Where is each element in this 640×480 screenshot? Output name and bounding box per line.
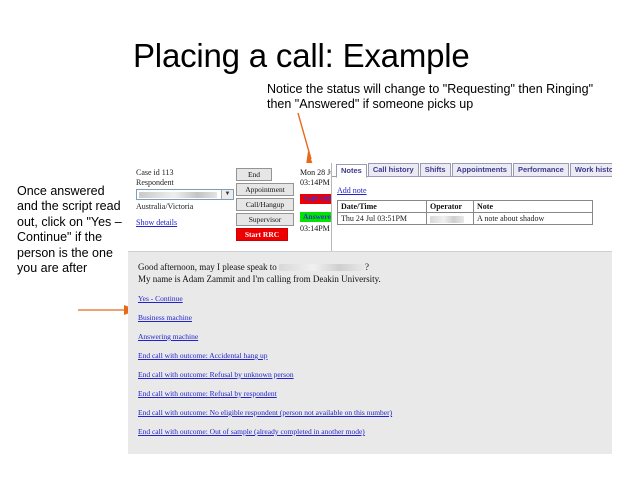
column-header-operator: Operator	[427, 201, 474, 213]
show-details-link[interactable]: Show details	[136, 217, 177, 228]
script-option-links: Yes - Continue Business machine Answerin…	[138, 294, 602, 437]
table-header-row: Date/Time Operator Note	[338, 201, 593, 213]
detail-tab-panel: Notes Call history Shifts Appointments P…	[331, 163, 612, 251]
script-body-region: Good afternoon, may I please speak to ? …	[128, 252, 612, 454]
page-title: Placing a call: Example	[133, 36, 470, 76]
notes-table: Date/Time Operator Note Thu 24 Jul 03:51…	[337, 200, 593, 225]
add-note-link[interactable]: Add note	[337, 185, 367, 196]
chevron-down-icon[interactable]: ▼	[221, 190, 233, 199]
option-yes-continue[interactable]: Yes - Continue	[138, 294, 183, 304]
app-header-region: Case id 113 Respondent ▼ Australia/Victo…	[128, 163, 612, 252]
cell-note: A note about shadow	[474, 213, 593, 225]
application-screenshot: Case id 113 Respondent ▼ Australia/Victo…	[128, 163, 612, 454]
tab-strip: Notes Call history Shifts Appointments P…	[332, 163, 612, 177]
end-button[interactable]: End	[236, 168, 272, 181]
call-action-buttons: End Appointment Call/Hangup Supervisor S…	[236, 168, 298, 243]
region-label: Australia/Victoria	[136, 202, 246, 212]
script-line-2: My name is Adam Zammit and I'm calling f…	[138, 273, 602, 285]
script-greeting: Good afternoon, may I please speak to	[138, 262, 277, 272]
annotation-yes-continue: Once answered and the script read out, c…	[17, 184, 127, 276]
tab-performance[interactable]: Performance	[513, 163, 569, 176]
table-row[interactable]: Thu 24 Jul 03:51PM A note about shadow	[338, 213, 593, 225]
script-line-1: Good afternoon, may I please speak to ?	[138, 261, 602, 273]
option-end-no-eligible-respondent[interactable]: End call with outcome: No eligible respo…	[138, 408, 392, 418]
appointment-button[interactable]: Appointment	[236, 183, 294, 196]
option-business-machine[interactable]: Business machine	[138, 313, 192, 323]
tab-appointments[interactable]: Appointments	[452, 163, 512, 176]
cell-datetime: Thu 24 Jul 03:51PM	[338, 213, 427, 225]
option-answering-machine[interactable]: Answering machine	[138, 332, 198, 342]
option-end-refusal-respondent[interactable]: End call with outcome: Refusal by respon…	[138, 389, 277, 399]
script-question-mark: ?	[365, 262, 369, 272]
respondent-name-redacted	[279, 264, 365, 271]
respondent-select[interactable]: ▼	[136, 189, 234, 200]
voip-status-badge: VoIP Off	[300, 194, 334, 204]
annotation-status-change: Notice the status will change to "Reques…	[267, 82, 607, 112]
tab-notes[interactable]: Notes	[336, 164, 367, 178]
start-rrc-button[interactable]: Start RRC	[236, 228, 288, 241]
respondent-label: Respondent	[136, 178, 246, 188]
notes-tab-body: Add note Date/Time Operator Note Thu 24 …	[332, 177, 612, 228]
tab-work-history[interactable]: Work history	[570, 163, 612, 176]
tab-shifts[interactable]: Shifts	[420, 163, 451, 176]
respondent-value-redacted	[139, 192, 217, 198]
case-info-panel: Case id 113 Respondent ▼ Australia/Victo…	[136, 168, 246, 230]
tab-call-history[interactable]: Call history	[368, 163, 419, 176]
call-hangup-button[interactable]: Call/Hangup	[236, 198, 294, 211]
case-id-label: Case id 113	[136, 168, 246, 178]
option-end-refusal-unknown-person[interactable]: End call with outcome: Refusal by unknow…	[138, 370, 294, 380]
supervisor-button[interactable]: Supervisor	[236, 213, 294, 226]
column-header-datetime: Date/Time	[338, 201, 427, 213]
column-header-note: Note	[474, 201, 593, 213]
cell-operator	[427, 213, 474, 225]
option-end-accidental-hang-up[interactable]: End call with outcome: Accidental hang u…	[138, 351, 268, 361]
option-end-out-of-sample[interactable]: End call with outcome: Out of sample (al…	[138, 427, 365, 437]
